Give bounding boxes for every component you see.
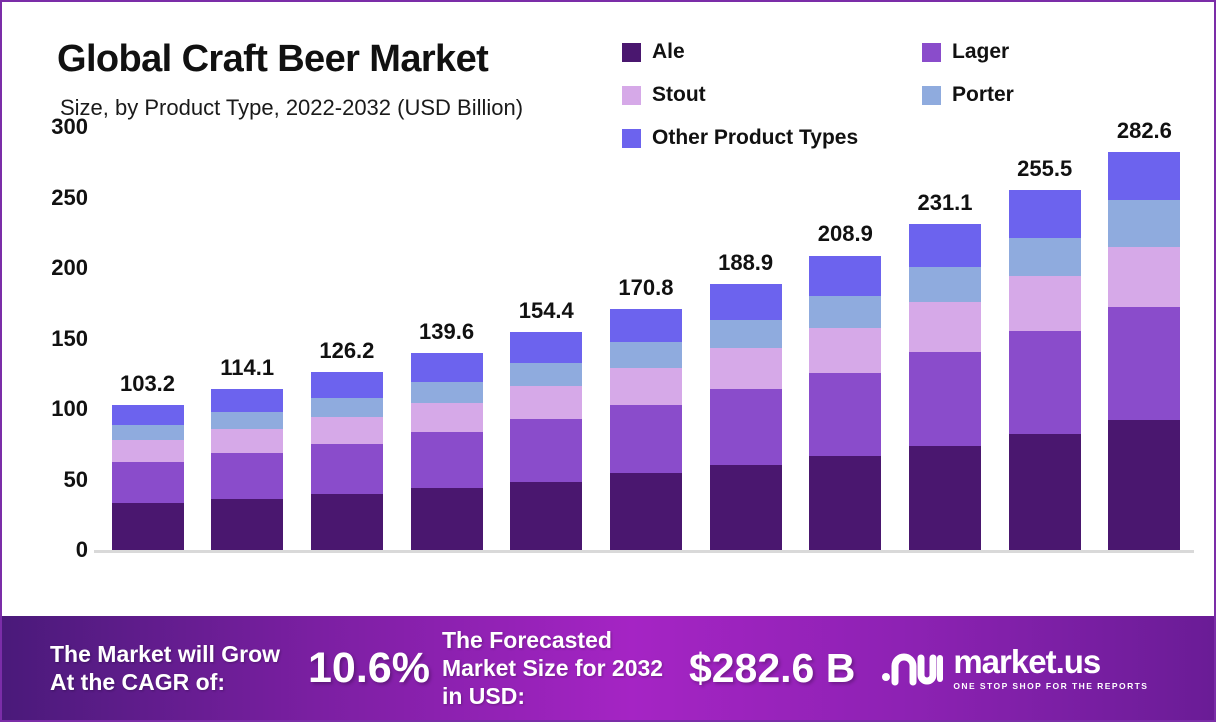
legend-row-1: Ale Lager (622, 40, 1092, 83)
legend-item-ale[interactable]: Ale (622, 40, 922, 64)
bar-stack (411, 353, 483, 550)
legend-item-porter[interactable]: Porter (922, 83, 1014, 107)
bar-total-label: 103.2 (98, 371, 197, 397)
cagr-value: 10.6% (308, 644, 430, 693)
y-axis-tick: 150 (14, 326, 88, 352)
bar-segment-porter[interactable] (1108, 200, 1180, 247)
bar-segment-stout[interactable] (1009, 276, 1081, 332)
bar-segment-lager[interactable] (809, 373, 881, 456)
bar-column-2027[interactable]: 170.8 (596, 127, 695, 550)
bar-total-label: 231.1 (896, 190, 995, 216)
bar-segment-stout[interactable] (809, 328, 881, 373)
bar-segment-ale[interactable] (411, 488, 483, 550)
legend-label-porter: Porter (952, 83, 1014, 107)
bar-segment-porter[interactable] (909, 267, 981, 302)
legend-item-stout[interactable]: Stout (622, 83, 922, 107)
bar-stack (112, 405, 184, 550)
forecast-label: The Forecasted Market Size for 2032 in U… (442, 626, 685, 710)
bar-segment-ale[interactable] (710, 465, 782, 550)
bar-segment-porter[interactable] (211, 412, 283, 429)
logo-wordmark: market.us (953, 645, 1148, 678)
page-title: Global Craft Beer Market (57, 38, 488, 81)
legend-label-ale: Ale (652, 40, 685, 64)
bar-stack (909, 224, 981, 550)
bar-segment-lager[interactable] (710, 389, 782, 465)
bar-segment-porter[interactable] (311, 398, 383, 417)
chart-subtitle: Size, by Product Type, 2022-2032 (USD Bi… (60, 95, 523, 121)
y-axis-tick: 250 (14, 185, 88, 211)
bar-column-2026[interactable]: 154.4 (497, 127, 596, 550)
bar-stack (809, 256, 881, 551)
y-axis-tick: 50 (14, 467, 88, 493)
bar-segment-ale[interactable] (909, 446, 981, 550)
legend-swatch-stout (622, 86, 641, 105)
logo-tagline: ONE STOP SHOP FOR THE REPORTS (953, 681, 1148, 691)
bar-segment-porter[interactable] (112, 425, 184, 441)
bar-segment-lager[interactable] (112, 462, 184, 503)
y-axis-tick: 0 (14, 537, 88, 563)
bar-column-2031[interactable]: 255.5 (995, 127, 1094, 550)
bar-segment-stout[interactable] (710, 348, 782, 388)
bar-stack (211, 389, 283, 550)
footer-banner: The Market will Grow At the CAGR of: 10.… (2, 616, 1214, 720)
bar-segment-other-product-types[interactable] (411, 353, 483, 381)
bar-segment-stout[interactable] (311, 417, 383, 444)
bar-segment-stout[interactable] (211, 429, 283, 454)
bar-segment-other-product-types[interactable] (710, 284, 782, 320)
bar-column-2025[interactable]: 139.6 (397, 127, 496, 550)
bar-segment-stout[interactable] (909, 302, 981, 352)
bar-total-label: 255.5 (995, 156, 1094, 182)
bar-column-2028[interactable]: 188.9 (696, 127, 795, 550)
bar-stack (510, 332, 582, 550)
bar-segment-ale[interactable] (1009, 434, 1081, 550)
legend-label-stout: Stout (652, 83, 706, 107)
bar-stack (311, 372, 383, 550)
bar-total-label: 154.4 (497, 298, 596, 324)
bar-total-label: 282.6 (1095, 118, 1194, 144)
bar-column-2032[interactable]: 282.6 (1095, 127, 1194, 550)
bar-segment-lager[interactable] (909, 352, 981, 446)
bar-segment-other-product-types[interactable] (1009, 190, 1081, 238)
bar-stack (1108, 152, 1180, 550)
legend-label-lager: Lager (952, 40, 1009, 64)
legend-swatch-ale (622, 43, 641, 62)
bar-segment-lager[interactable] (1009, 331, 1081, 434)
bar-segment-ale[interactable] (809, 456, 881, 550)
bar-stack (710, 284, 782, 550)
logo-text-wrap: market.us ONE STOP SHOP FOR THE REPORTS (953, 645, 1148, 691)
legend-row-2: Stout Porter (622, 83, 1092, 126)
bar-segment-porter[interactable] (510, 363, 582, 386)
bar-segment-lager[interactable] (1108, 307, 1180, 420)
bar-column-2022[interactable]: 103.2 (98, 127, 197, 550)
bar-total-label: 114.1 (198, 355, 297, 381)
bar-column-2024[interactable]: 126.2 (297, 127, 396, 550)
legend-item-lager[interactable]: Lager (922, 40, 1009, 64)
bar-total-label: 139.6 (397, 319, 496, 345)
bar-segment-ale[interactable] (311, 494, 383, 550)
bar-segment-porter[interactable] (809, 296, 881, 328)
chart-plot-area: 300250200150100500 103.2114.1126.2139.61… (2, 127, 1214, 614)
bar-total-label: 170.8 (596, 275, 695, 301)
bar-column-2029[interactable]: 208.9 (796, 127, 895, 550)
cagr-label: The Market will Grow At the CAGR of: (50, 640, 308, 696)
bar-segment-lager[interactable] (311, 444, 383, 494)
bar-segment-stout[interactable] (510, 386, 582, 419)
bar-total-label: 126.2 (297, 338, 396, 364)
infographic-page: Global Craft Beer Market Size, by Produc… (0, 0, 1216, 722)
bar-segment-stout[interactable] (411, 403, 483, 433)
y-axis-tick: 100 (14, 396, 88, 422)
bar-stack (1009, 190, 1081, 550)
bar-segment-porter[interactable] (710, 320, 782, 349)
bar-segment-other-product-types[interactable] (809, 256, 881, 297)
bar-segment-other-product-types[interactable] (211, 389, 283, 412)
bar-segment-lager[interactable] (510, 419, 582, 482)
bar-segment-ale[interactable] (211, 499, 283, 550)
bar-segment-porter[interactable] (1009, 238, 1081, 276)
bar-segment-stout[interactable] (1108, 247, 1180, 308)
bar-column-2030[interactable]: 231.1 (896, 127, 995, 550)
bar-segment-ale[interactable] (510, 482, 582, 550)
bar-segment-other-product-types[interactable] (909, 224, 981, 267)
y-axis: 300250200150100500 (2, 127, 88, 614)
bar-segment-other-product-types[interactable] (311, 372, 383, 398)
y-axis-tick: 300 (14, 114, 88, 140)
bar-total-label: 208.9 (796, 221, 895, 247)
bar-segment-porter[interactable] (411, 382, 483, 403)
bar-segment-other-product-types[interactable] (510, 332, 582, 362)
market-us-logo-icon (881, 646, 943, 691)
bar-series-container: 103.2114.1126.2139.6154.4170.8188.9208.9… (98, 127, 1194, 550)
bar-total-label: 188.9 (696, 250, 795, 276)
market-us-logo[interactable]: market.us ONE STOP SHOP FOR THE REPORTS (881, 645, 1148, 691)
bar-segment-stout[interactable] (610, 368, 682, 405)
y-axis-tick: 200 (14, 255, 88, 281)
bar-stack (610, 309, 682, 550)
bar-segment-porter[interactable] (610, 342, 682, 368)
bar-segment-ale[interactable] (112, 503, 184, 550)
legend-swatch-lager (922, 43, 941, 62)
bar-segment-lager[interactable] (411, 432, 483, 488)
bar-segment-lager[interactable] (211, 453, 283, 499)
legend-swatch-porter (922, 86, 941, 105)
bar-segment-lager[interactable] (610, 405, 682, 473)
bar-segment-ale[interactable] (610, 473, 682, 550)
bar-segment-other-product-types[interactable] (610, 309, 682, 342)
bar-column-2023[interactable]: 114.1 (198, 127, 297, 550)
bar-segment-other-product-types[interactable] (112, 405, 184, 425)
bar-segment-stout[interactable] (112, 440, 184, 462)
bar-segment-ale[interactable] (1108, 420, 1180, 550)
bar-segment-other-product-types[interactable] (1108, 152, 1180, 201)
forecast-value: $282.6 B (689, 645, 855, 692)
x-axis-line (94, 550, 1194, 553)
